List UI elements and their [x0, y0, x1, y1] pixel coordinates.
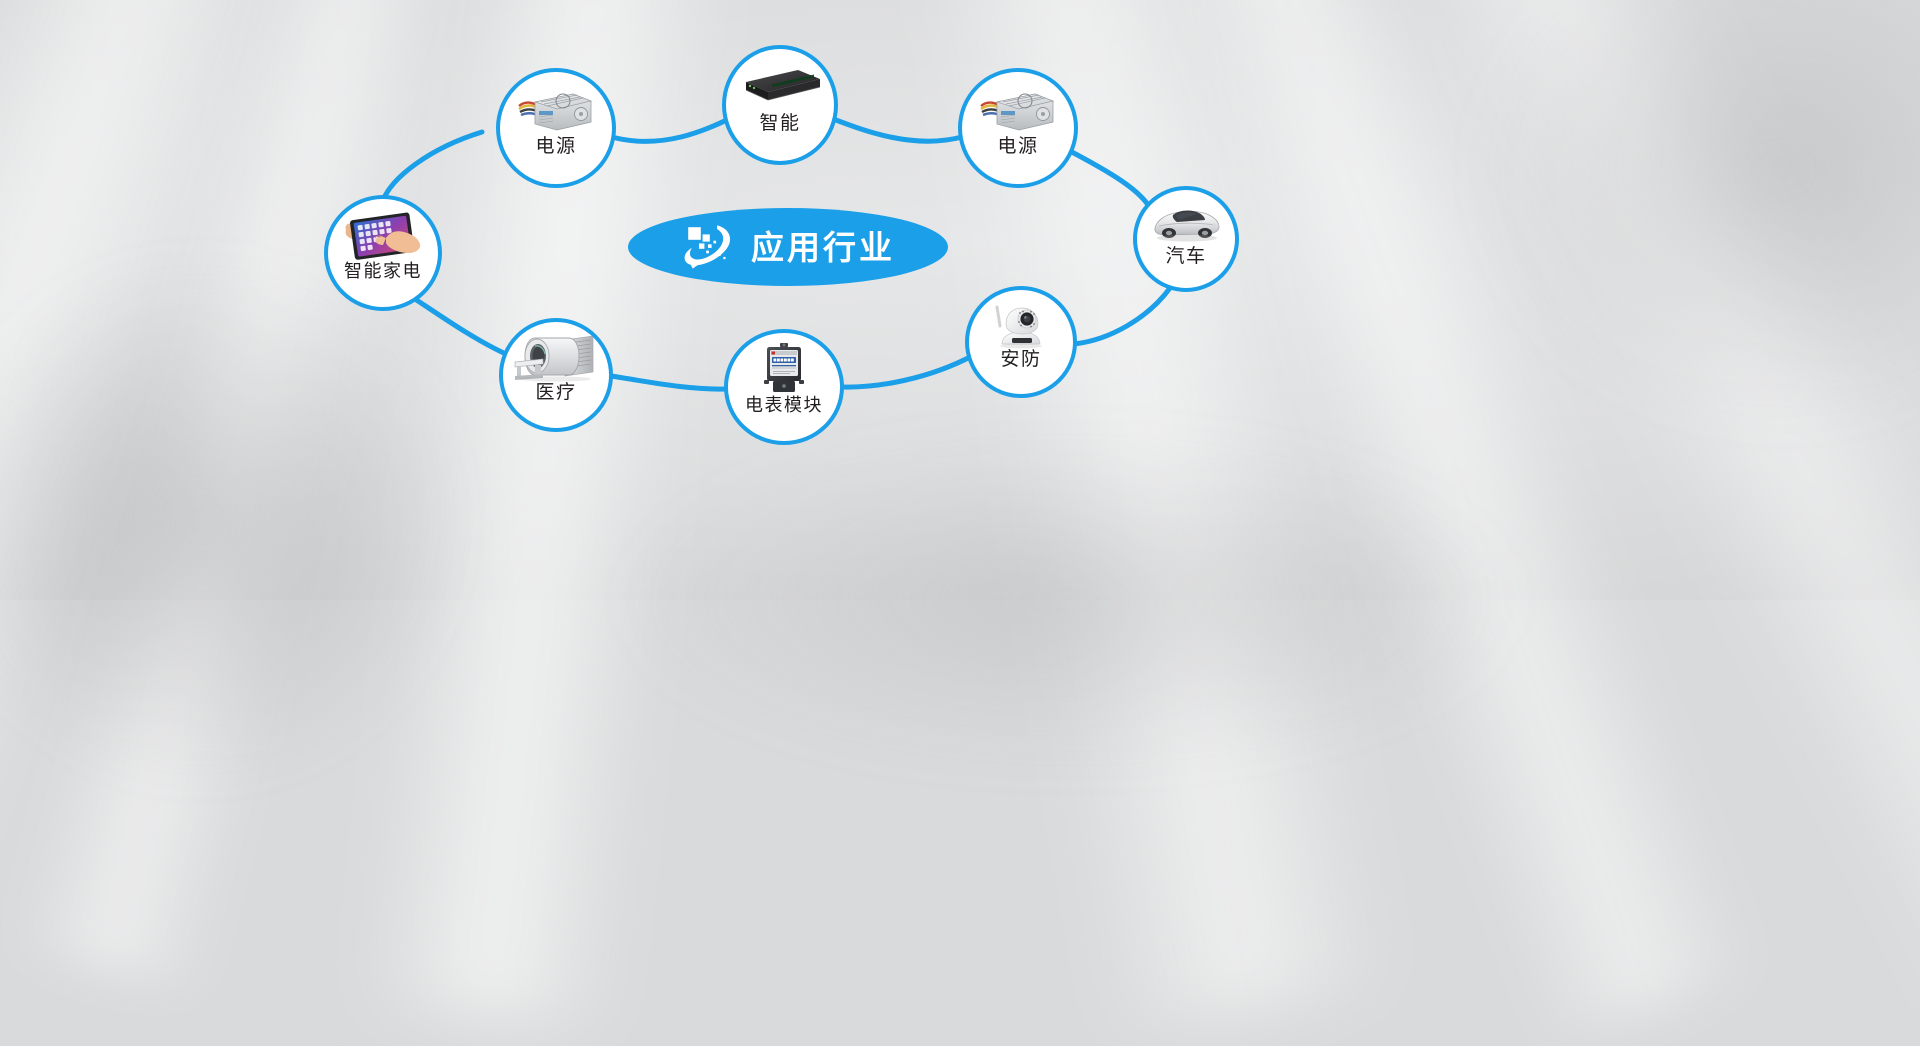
center-title: 应用行业	[751, 231, 895, 264]
node-label: 电源	[535, 137, 576, 156]
node-label: 电表模块	[745, 396, 823, 414]
node-label: 医疗	[535, 383, 576, 402]
ip-camera-icon	[969, 290, 1073, 350]
connector-arc	[1074, 288, 1170, 344]
node-label: 智能	[759, 114, 800, 133]
connector-arc	[612, 117, 733, 141]
node-smart-home[interactable]: 智能家电	[324, 195, 442, 311]
orbit-pixel-swoosh-icon	[681, 220, 735, 274]
connector-arc	[842, 356, 972, 387]
connector-arc	[611, 376, 726, 389]
center-badge[interactable]: 应用行业	[628, 208, 948, 286]
node-security[interactable]: 安防	[965, 286, 1077, 398]
node-label: 智能家电	[344, 262, 422, 280]
node-smart[interactable]: 智能	[722, 45, 838, 165]
tablet-hand-icon	[328, 199, 438, 262]
sports-car-icon	[1137, 190, 1235, 247]
connector-arc	[382, 132, 482, 203]
connector-arc	[1068, 150, 1150, 208]
rack-server-icon	[726, 49, 834, 114]
infographic-canvas: 电源 智能	[0, 0, 1920, 600]
node-automotive[interactable]: 汽车	[1133, 186, 1239, 292]
node-medical[interactable]: 医疗	[499, 318, 613, 432]
node-power-right[interactable]: 电源	[958, 68, 1078, 188]
connector-arc	[404, 292, 508, 355]
connector-arc	[828, 117, 962, 141]
power-supply-icon	[962, 72, 1074, 137]
node-power-left[interactable]: 电源	[496, 68, 616, 188]
power-supply-icon	[500, 72, 612, 137]
connector-ring	[0, 0, 1920, 600]
node-label: 电源	[997, 137, 1038, 156]
node-meter-module[interactable]: 电表模块	[724, 329, 844, 445]
mri-scanner-icon	[503, 322, 609, 383]
node-label: 安防	[1000, 350, 1041, 369]
electric-meter-icon	[728, 333, 840, 396]
node-label: 汽车	[1165, 247, 1206, 266]
